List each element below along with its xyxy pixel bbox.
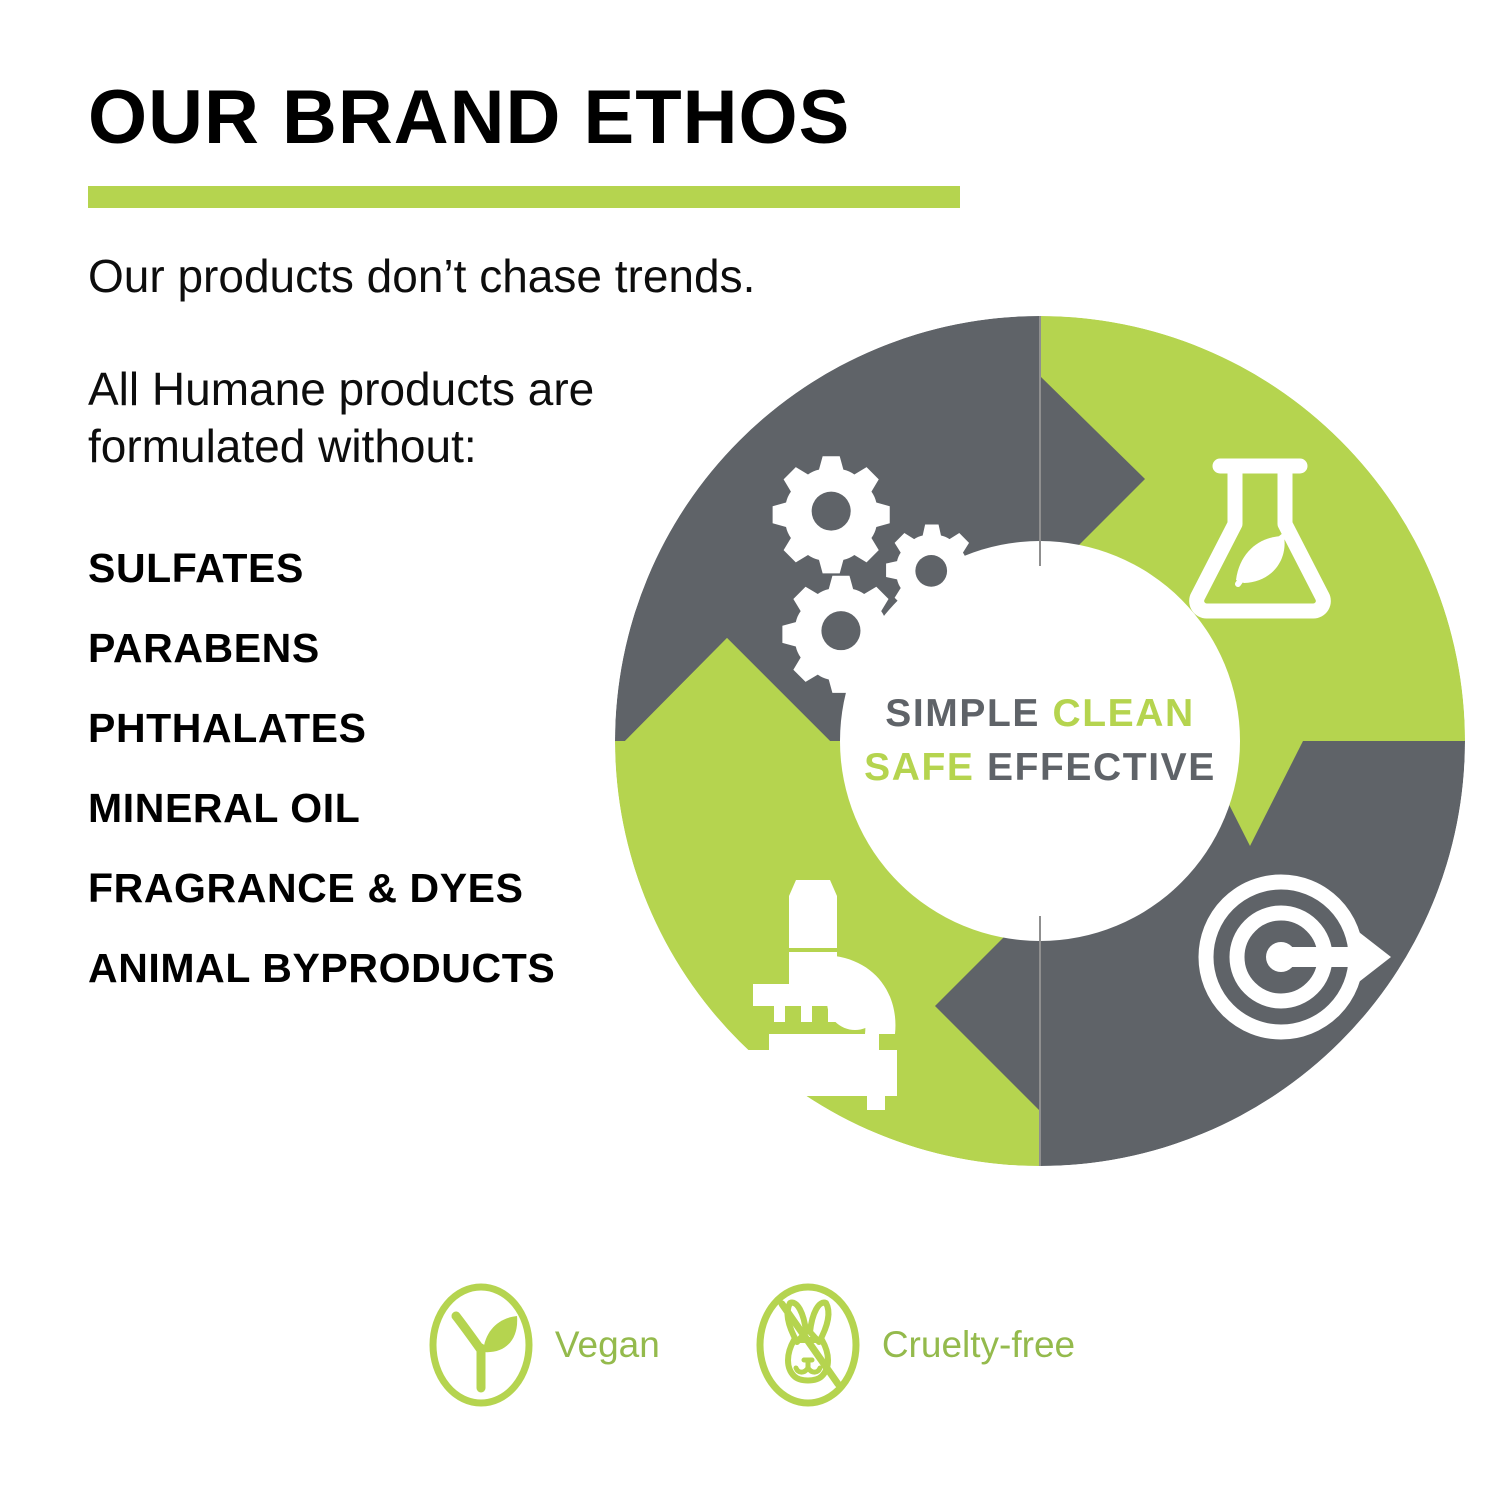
page-title: OUR BRAND ETHOS	[88, 80, 788, 156]
title-underline-rule	[88, 186, 960, 208]
ethos-cycle-diagram	[615, 316, 1465, 1166]
certification-badges: Vegan Cruelty-free	[0, 1280, 1500, 1410]
badge-vegan-label: Vegan	[555, 1324, 660, 1366]
vegan-sprout-icon	[425, 1280, 537, 1410]
badge-cruelty-free-label: Cruelty-free	[882, 1324, 1075, 1366]
cruelty-free-rabbit-icon	[752, 1280, 864, 1410]
badge-vegan: Vegan	[425, 1280, 660, 1410]
badge-cruelty-free: Cruelty-free	[752, 1280, 1075, 1410]
tagline-text: Our products don’t chase trends.	[88, 250, 788, 303]
